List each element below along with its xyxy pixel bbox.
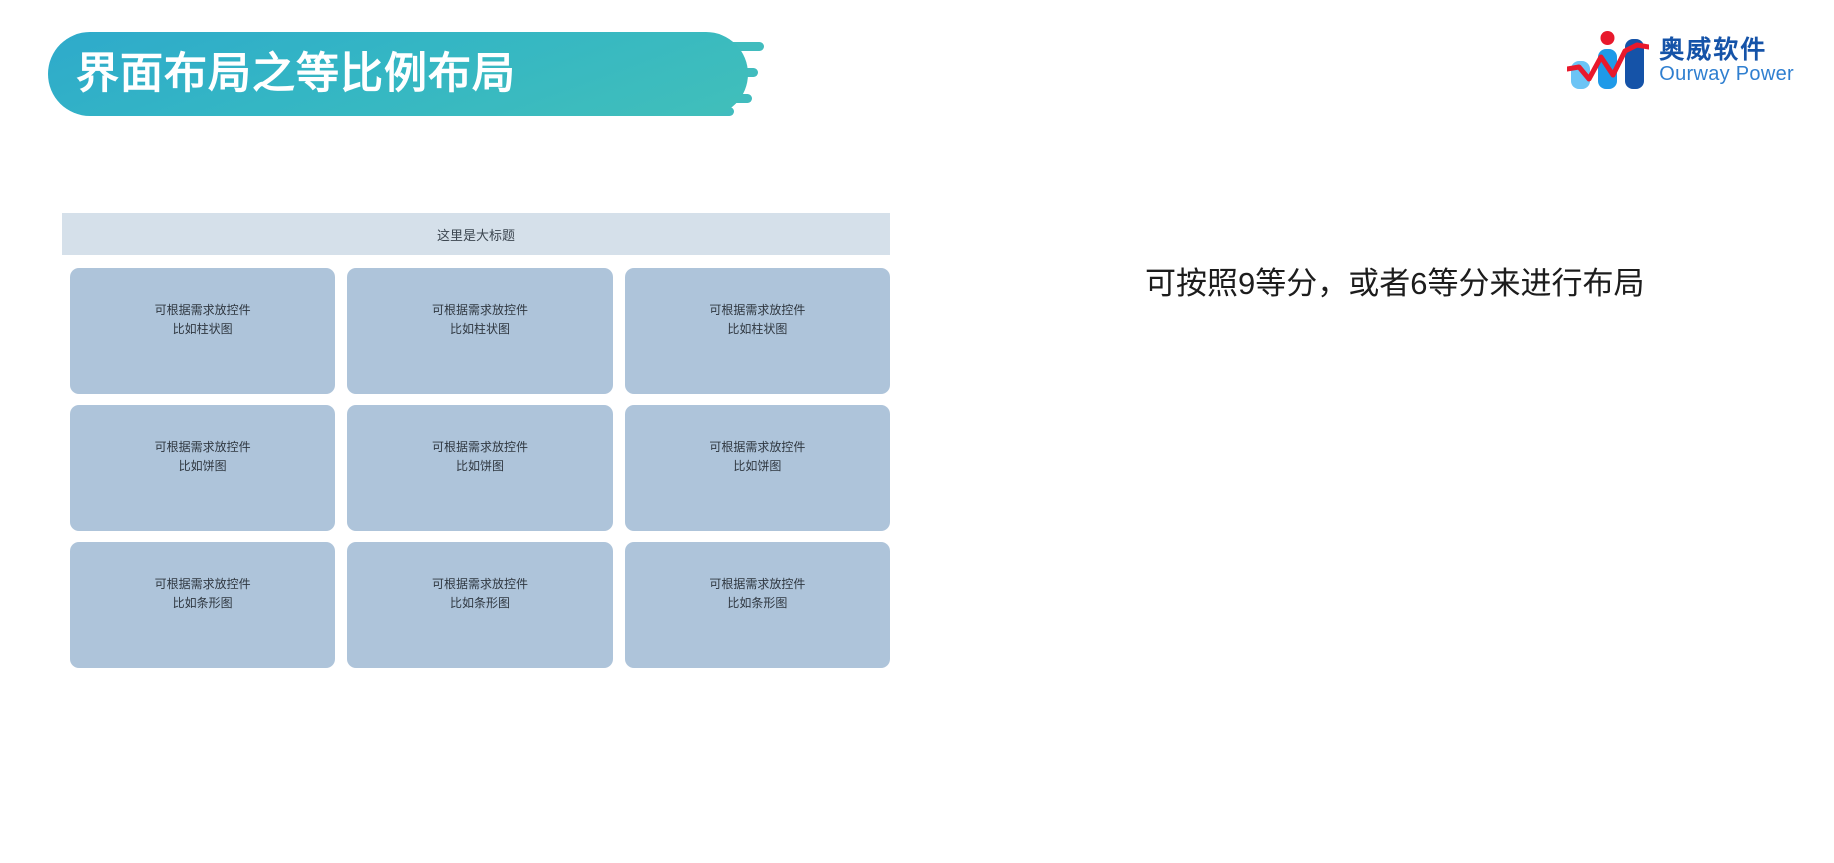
grid-card-line-1: 可根据需求放控件 [155, 301, 251, 320]
dashboard-header-title: 这里是大标题 [437, 225, 515, 244]
company-logo: 奥威软件 Ourway Power [1567, 30, 1794, 92]
logo-chinese-name: 奥威软件 [1659, 37, 1794, 64]
logo-chart-bars-icon [1567, 31, 1649, 91]
slide-title-banner: 界面布局之等比例布局 [48, 32, 748, 116]
grid-card[interactable]: 可根据需求放控件 比如柱状图 [347, 268, 612, 394]
grid-card-line-1: 可根据需求放控件 [709, 575, 805, 594]
grid-card-line-1: 可根据需求放控件 [709, 438, 805, 457]
grid-card-line-1: 可根据需求放控件 [155, 438, 251, 457]
grid-card[interactable]: 可根据需求放控件 比如饼图 [347, 405, 612, 531]
grid-card-line-2: 比如条形图 [727, 594, 787, 613]
dashboard-header-bar: 这里是大标题 [62, 213, 890, 255]
grid-card[interactable]: 可根据需求放控件 比如饼图 [625, 405, 890, 531]
grid-card-line-2: 比如柱状图 [727, 320, 787, 339]
grid-card[interactable]: 可根据需求放控件 比如柱状图 [70, 268, 335, 394]
grid-card[interactable]: 可根据需求放控件 比如条形图 [70, 542, 335, 668]
dashboard-layout-mock: 这里是大标题 可根据需求放控件 比如柱状图 可根据需求放控件 比如柱状图 可根据… [62, 213, 890, 668]
grid-card-line-1: 可根据需求放控件 [432, 438, 528, 457]
logo-english-name: Ourway Power [1659, 64, 1794, 86]
grid-card-line-1: 可根据需求放控件 [155, 575, 251, 594]
slide-title-text: 界面布局之等比例布局 [76, 53, 516, 96]
grid-card-line-1: 可根据需求放控件 [432, 301, 528, 320]
grid-card-line-2: 比如柱状图 [173, 320, 233, 339]
grid-card[interactable]: 可根据需求放控件 比如饼图 [70, 405, 335, 531]
grid-card-line-2: 比如条形图 [450, 594, 510, 613]
grid-card-line-2: 比如饼图 [179, 457, 227, 476]
grid-card-line-1: 可根据需求放控件 [709, 301, 805, 320]
logo-text-group: 奥威软件 Ourway Power [1659, 37, 1794, 86]
grid-card[interactable]: 可根据需求放控件 比如柱状图 [625, 268, 890, 394]
grid-card-line-2: 比如饼图 [733, 457, 781, 476]
grid-card-line-1: 可根据需求放控件 [432, 575, 528, 594]
grid-card-line-2: 比如饼图 [456, 457, 504, 476]
grid-card[interactable]: 可根据需求放控件 比如条形图 [625, 542, 890, 668]
layout-caption-text: 可按照9等分，或者6等分来进行布局 [1145, 262, 1785, 305]
grid-card-line-2: 比如条形图 [173, 594, 233, 613]
dashboard-card-grid: 可根据需求放控件 比如柱状图 可根据需求放控件 比如柱状图 可根据需求放控件 比… [70, 268, 890, 668]
grid-card[interactable]: 可根据需求放控件 比如条形图 [347, 542, 612, 668]
grid-card-line-2: 比如柱状图 [450, 320, 510, 339]
